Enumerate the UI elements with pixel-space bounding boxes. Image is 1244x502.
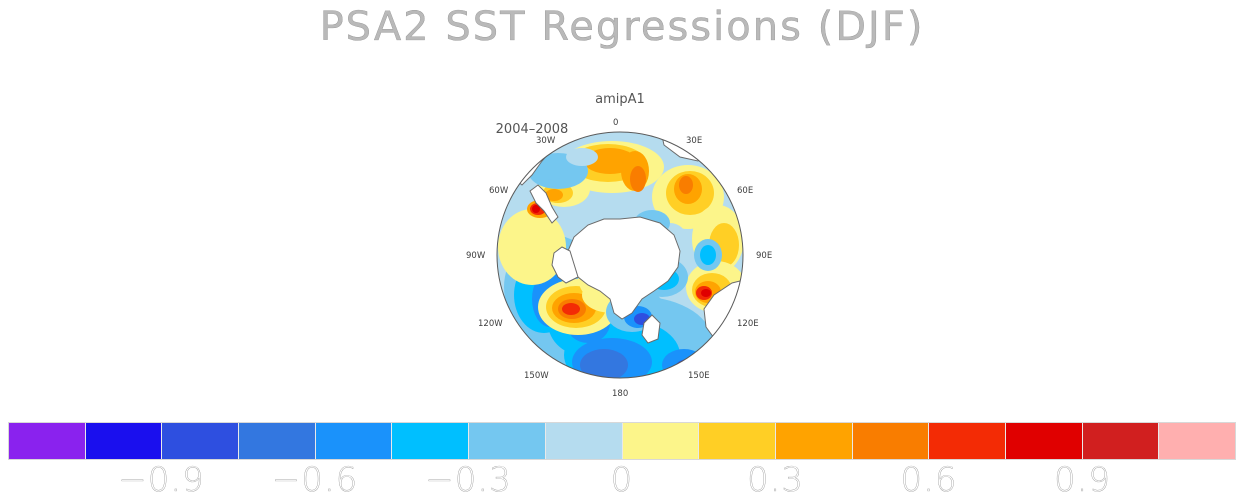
lon-label-30e: 30E — [686, 136, 702, 146]
colorbar-swatch-14 — [1083, 423, 1160, 459]
colorbar-swatch-1 — [86, 423, 163, 459]
lon-label-30w: 30W — [536, 136, 555, 146]
colorbar-tick-6: 0.9 — [1018, 460, 1148, 500]
sst-field — [492, 127, 748, 383]
lon-label-90e: 90E — [756, 251, 772, 261]
lon-label-120w: 120W — [478, 319, 503, 329]
colorbar-swatch-2 — [162, 423, 239, 459]
lon-label-60w: 60W — [489, 186, 508, 196]
lon-label-90w: 90W — [466, 251, 485, 261]
polar-map-svg — [492, 127, 748, 383]
lon-label-150e: 150E — [688, 371, 710, 381]
colorbar-tick-4: 0.3 — [711, 460, 841, 500]
colorbar-swatch-0 — [9, 423, 86, 459]
colorbar-swatch-3 — [239, 423, 316, 459]
colorbar-swatch-4 — [316, 423, 393, 459]
page-title: PSA2 SST Regressions (DJF) — [0, 4, 1244, 50]
map-subtitle: amipA1 — [560, 92, 680, 107]
colorbar-tick-5: 0.6 — [864, 460, 994, 500]
colorbar-swatch-13 — [1006, 423, 1083, 459]
polar-map — [492, 127, 748, 383]
colorbar-swatch-12 — [929, 423, 1006, 459]
colorbar-swatch-7 — [546, 423, 623, 459]
colorbar-labels: −0.9−0.6−0.300.30.60.9 — [8, 460, 1236, 502]
colorbar-tick-3: 0 — [557, 460, 687, 500]
lon-label-180: 180 — [612, 389, 628, 399]
colorbar-tick-0: −0.9 — [97, 460, 227, 500]
colorbar-swatch-6 — [469, 423, 546, 459]
colorbar[interactable] — [8, 422, 1236, 460]
lon-label-60e: 60E — [737, 186, 753, 196]
colorbar-swatch-8 — [623, 423, 700, 459]
colorbar-swatch-5 — [392, 423, 469, 459]
lon-label-120e: 120E — [737, 319, 759, 329]
colorbar-tick-2: −0.3 — [404, 460, 534, 500]
colorbar-swatch-11 — [853, 423, 930, 459]
colorbar-tick-1: −0.6 — [250, 460, 380, 500]
colorbar-swatch-9 — [699, 423, 776, 459]
lon-label-150w: 150W — [524, 371, 549, 381]
lon-label-0: 0 — [613, 118, 618, 128]
colorbar-swatch-10 — [776, 423, 853, 459]
colorbar-swatch-15 — [1159, 423, 1235, 459]
